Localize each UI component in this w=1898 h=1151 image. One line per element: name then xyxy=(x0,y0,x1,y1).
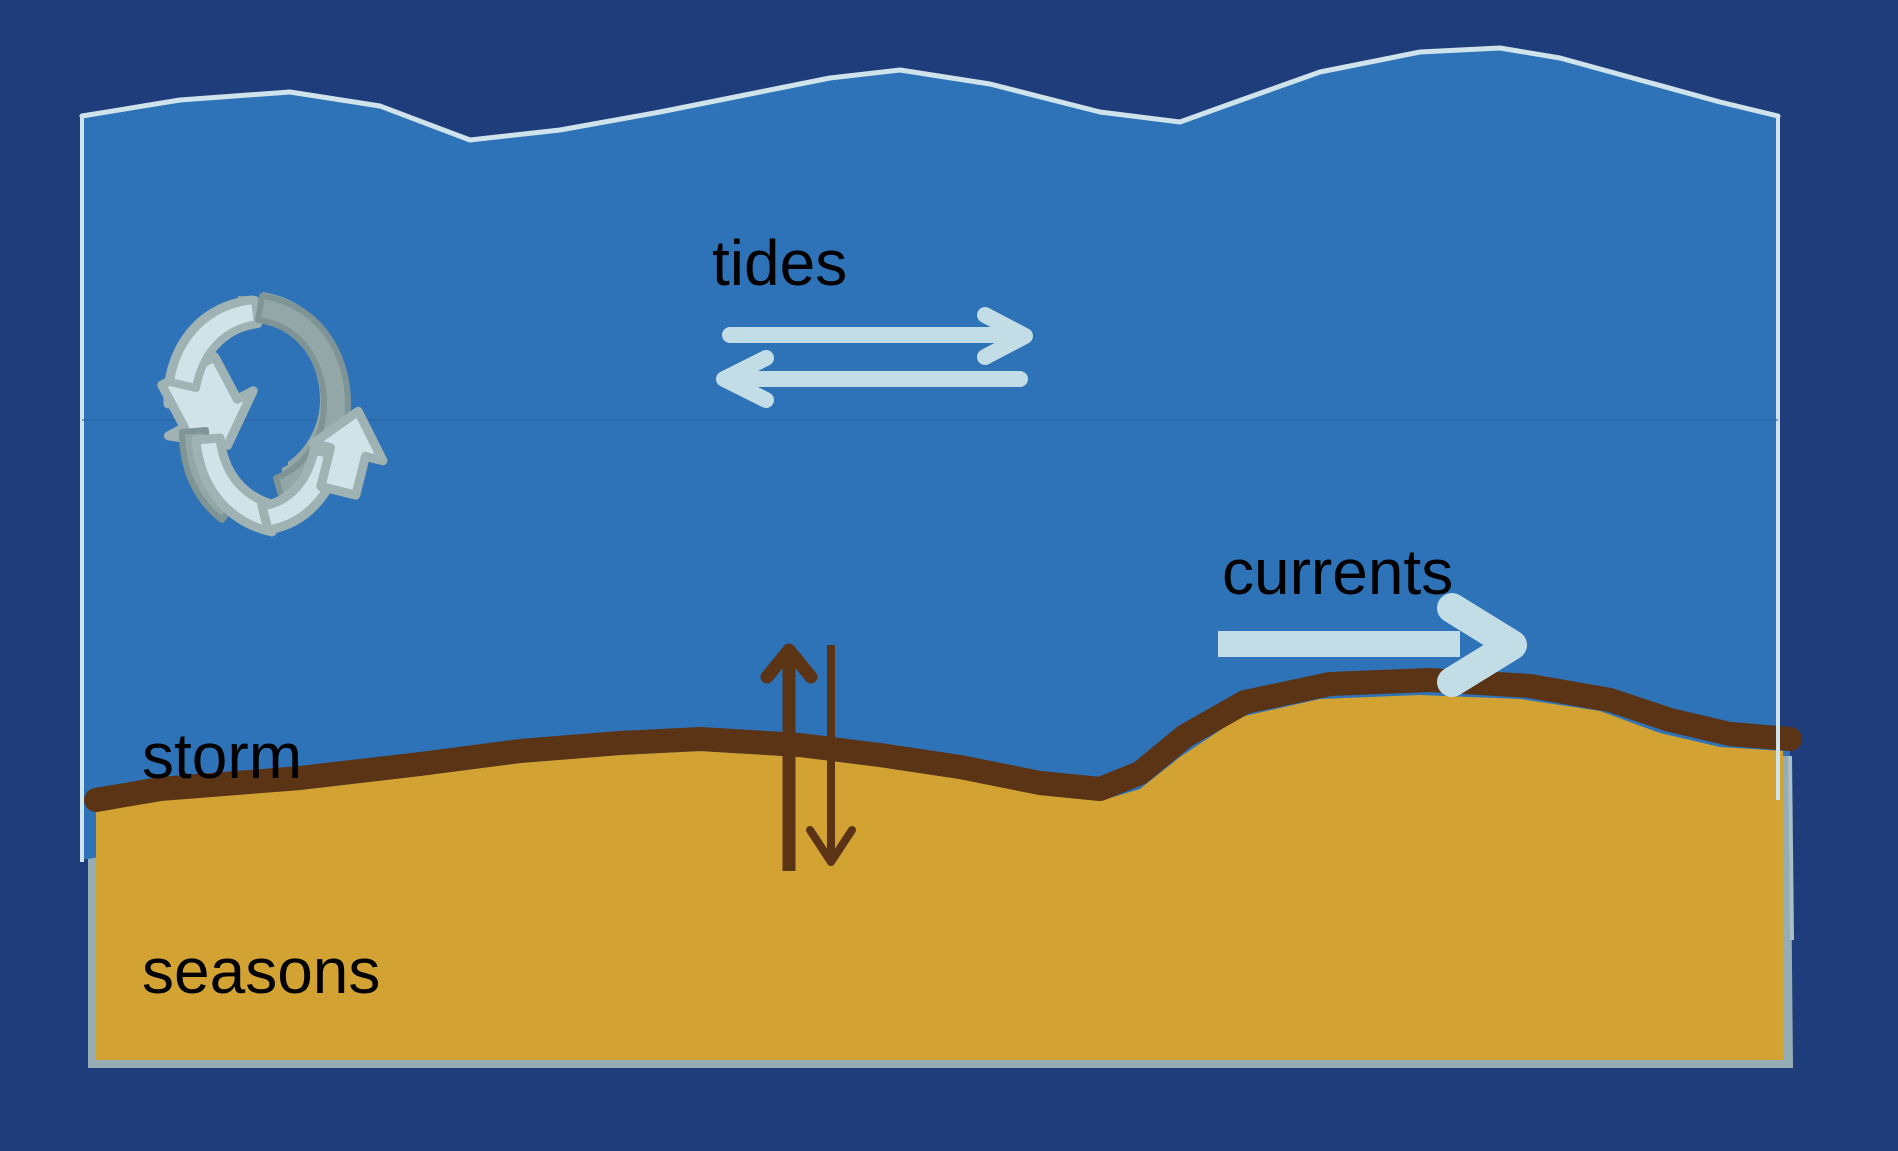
diagram-canvas: tides currents storm seasons xyxy=(0,0,1898,1134)
label-currents: currents xyxy=(1222,537,1453,609)
sand-right-edge xyxy=(1790,756,1792,940)
label-storm-seasons: storm seasons xyxy=(142,578,380,1151)
label-tides: tides xyxy=(712,228,847,300)
label-storm-seasons-line1: storm xyxy=(142,721,380,793)
label-storm-seasons-line2: seasons xyxy=(142,936,380,1008)
